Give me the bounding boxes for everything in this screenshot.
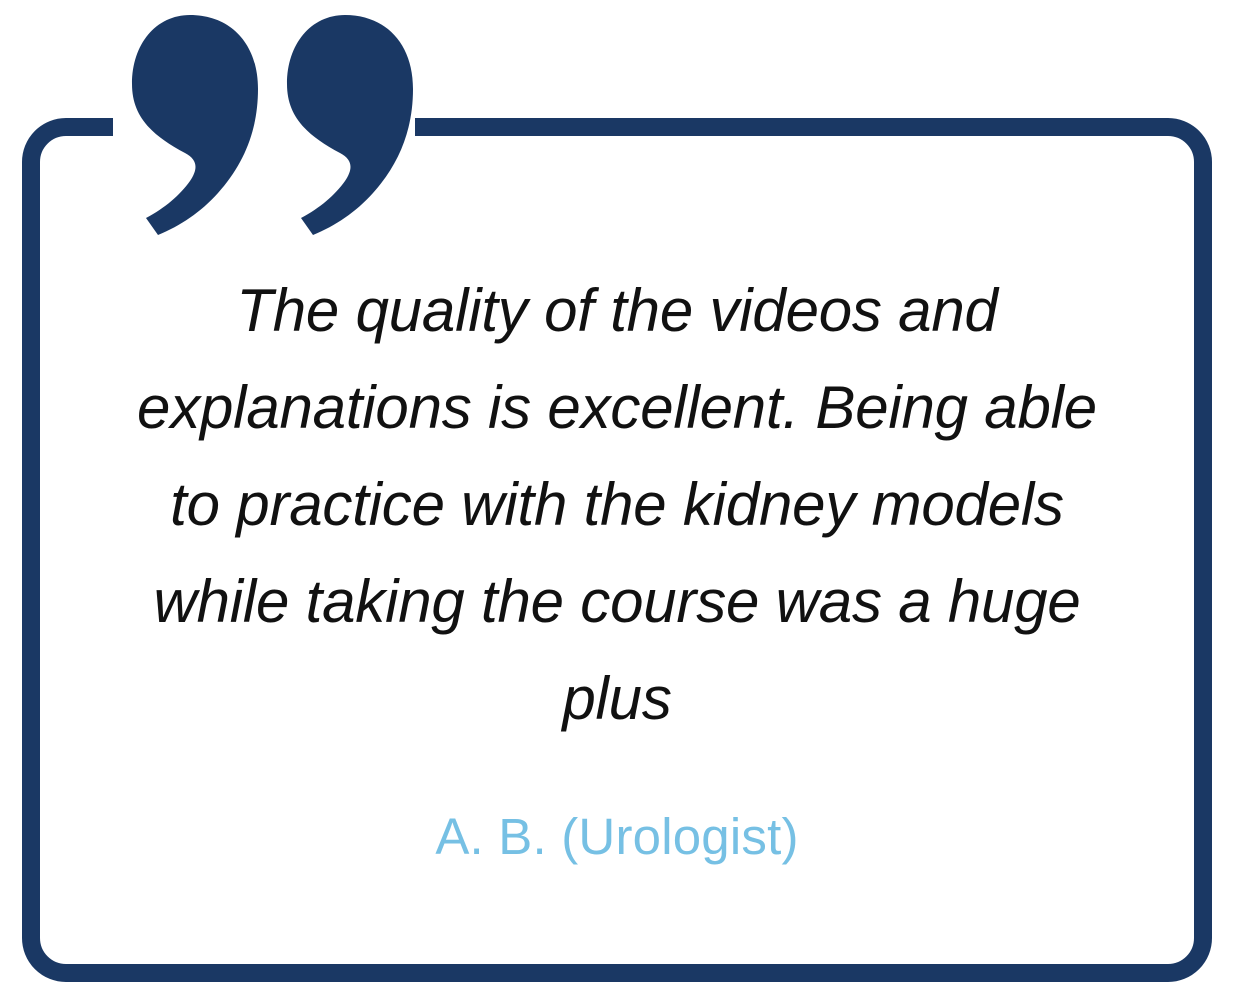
card-content: The quality of the videos and explanatio… bbox=[22, 136, 1212, 982]
quote-attribution: A. B. (Urologist) bbox=[435, 747, 798, 867]
quote-text: The quality of the videos and explanatio… bbox=[112, 136, 1122, 747]
testimonial-card: The quality of the videos and explanatio… bbox=[0, 0, 1240, 1004]
